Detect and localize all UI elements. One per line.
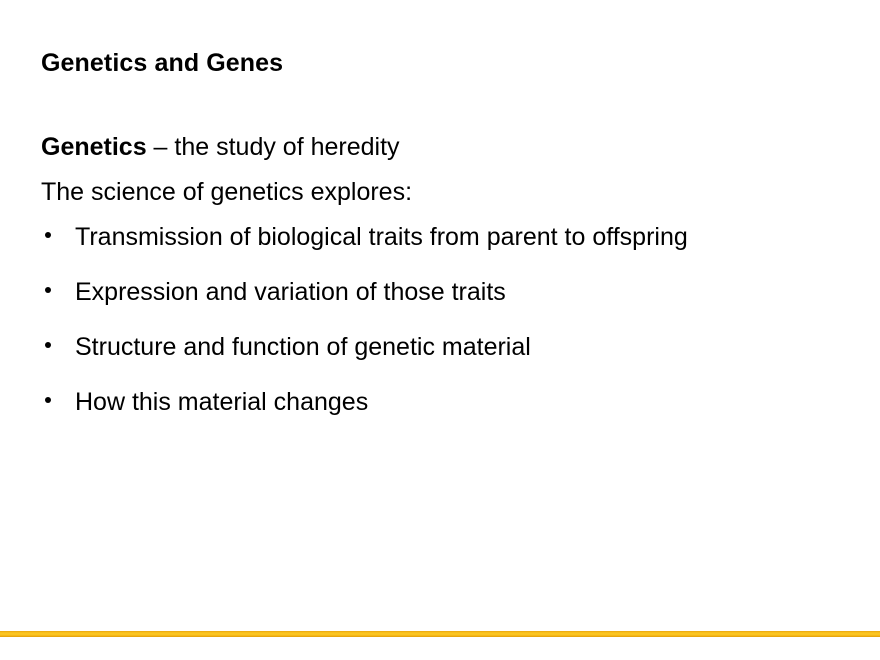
bullet-list: Transmission of biological traits from p… <box>41 222 851 442</box>
list-item: Structure and function of genetic materi… <box>41 332 851 387</box>
list-item: Transmission of biological traits from p… <box>41 222 851 277</box>
list-item-label: Expression and variation of those traits <box>75 278 506 306</box>
definition-description: – the study of heredity <box>147 133 400 161</box>
list-item: Expression and variation of those traits <box>41 277 851 332</box>
definition-line: Genetics – the study of heredity <box>41 131 841 163</box>
slide-body: Genetics – the study of heredity The sci… <box>41 131 841 208</box>
bullet-dot-icon <box>45 397 51 403</box>
list-item: How this material changes <box>41 387 851 442</box>
list-item-label: Structure and function of genetic materi… <box>75 333 531 361</box>
definition-term: Genetics <box>41 133 147 161</box>
footer-accent-bar <box>0 631 880 637</box>
subheading: The science of genetics explores: <box>41 176 841 208</box>
bullet-dot-icon <box>45 287 51 293</box>
page-title: Genetics and Genes <box>41 48 283 78</box>
bullet-dot-icon <box>45 232 51 238</box>
bullet-dot-icon <box>45 342 51 348</box>
list-item-label: How this material changes <box>75 388 368 416</box>
slide: Genetics and Genes Genetics – the study … <box>0 0 880 660</box>
list-item-label: Transmission of biological traits from p… <box>75 223 688 251</box>
